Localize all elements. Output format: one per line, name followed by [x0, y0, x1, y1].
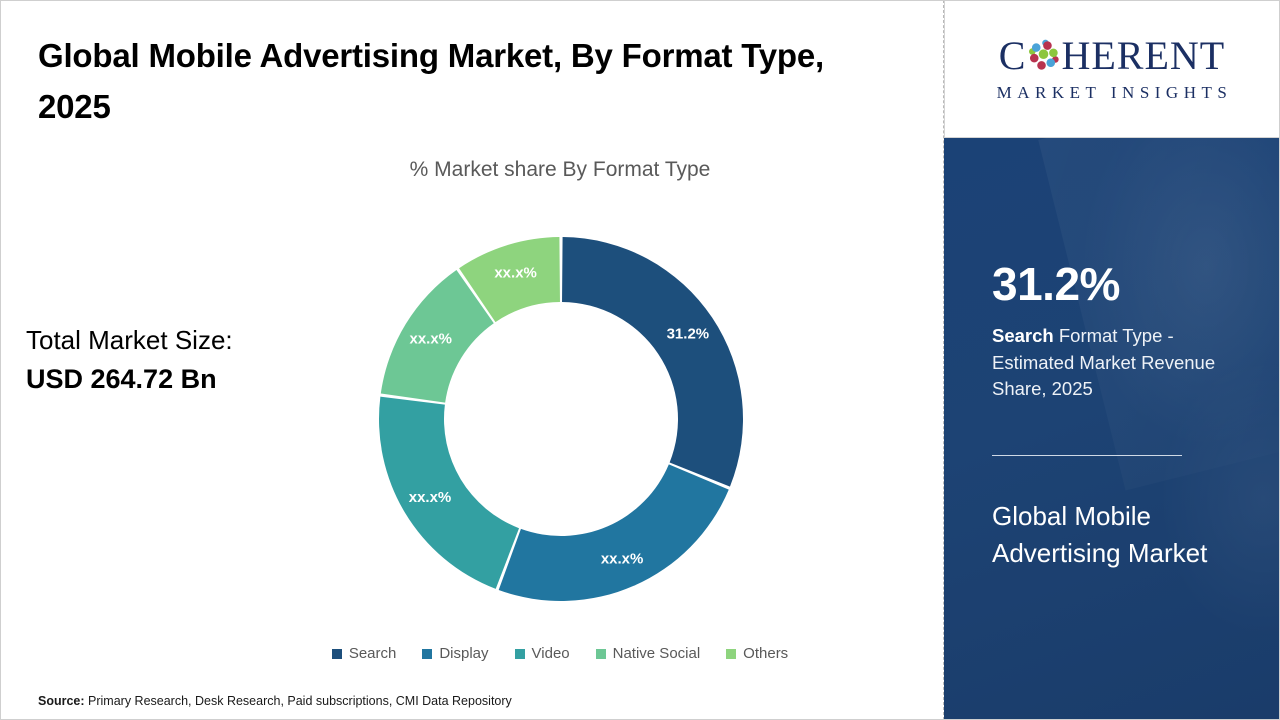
brand-name-part-1: C: [999, 36, 1027, 76]
source-text: Primary Research, Desk Research, Paid su…: [85, 694, 512, 708]
legend-item-display: Display: [422, 645, 488, 662]
rail-highlight-panel: 31.2% Search Format Type - Estimated Mar…: [944, 138, 1280, 720]
legend-swatch-icon: [422, 649, 432, 659]
donut-slice-label-display: xx.x%: [601, 550, 644, 567]
donut-slice-display: [499, 464, 729, 601]
donut-chart: 31.2%xx.x%xx.x%xx.x%xx.x%: [370, 228, 752, 610]
legend-item-others: Others: [726, 645, 788, 662]
legend-label: Others: [743, 645, 788, 662]
legend-label: Video: [532, 645, 570, 662]
legend-item-native-social: Native Social: [596, 645, 701, 662]
right-rail: C HERENT MARKET INSIGHTS 31.2% Search Fo…: [944, 0, 1280, 720]
legend-swatch-icon: [726, 649, 736, 659]
page-title: Global Mobile Advertising Market, By For…: [38, 30, 888, 132]
chart-subtitle: % Market share By Format Type: [180, 158, 940, 182]
legend-swatch-icon: [596, 649, 606, 659]
globe-dots-icon: [1027, 39, 1060, 72]
highlight-caption: Search Format Type - Estimated Market Re…: [992, 323, 1232, 403]
total-market-size-label: Total Market Size:: [26, 322, 336, 360]
brand-name-part-2: HERENT: [1061, 36, 1225, 76]
legend-item-video: Video: [515, 645, 570, 662]
legend-label: Search: [349, 645, 397, 662]
donut-slice-group: [379, 237, 743, 601]
donut-slice-label-search: 31.2%: [667, 325, 710, 342]
rail-divider-rule: [992, 455, 1182, 456]
chart-legend: SearchDisplayVideoNative SocialOthers: [180, 645, 940, 662]
rail-market-name: Global Mobile Advertising Market: [992, 498, 1242, 573]
legend-swatch-icon: [515, 649, 525, 659]
donut-slice-search: [562, 237, 743, 487]
legend-label: Display: [439, 645, 488, 662]
highlight-stat-value: 31.2%: [992, 261, 1120, 307]
source-label: Source:: [38, 694, 85, 708]
donut-slice-label-native-social: xx.x%: [409, 331, 452, 348]
brand-wordmark: C HERENT: [999, 36, 1225, 76]
brand-tagline: MARKET INSIGHTS: [992, 83, 1233, 103]
brand-logo: C HERENT MARKET INSIGHTS: [944, 0, 1280, 138]
donut-slice-label-others: xx.x%: [494, 265, 537, 282]
report-slide: Global Mobile Advertising Market, By For…: [0, 0, 1280, 720]
donut-slice-label-video: xx.x%: [409, 489, 452, 506]
source-note: Source: Primary Research, Desk Research,…: [38, 694, 512, 708]
total-market-size-value: USD 264.72 Bn: [26, 360, 336, 399]
donut-chart-svg: 31.2%xx.x%xx.x%xx.x%xx.x%: [370, 228, 752, 610]
legend-swatch-icon: [332, 649, 342, 659]
legend-label: Native Social: [613, 645, 701, 662]
total-market-size-block: Total Market Size: USD 264.72 Bn: [26, 322, 336, 399]
main-chart-panel: Global Mobile Advertising Market, By For…: [0, 0, 944, 720]
highlight-caption-bold: Search: [992, 325, 1054, 346]
legend-item-search: Search: [332, 645, 397, 662]
